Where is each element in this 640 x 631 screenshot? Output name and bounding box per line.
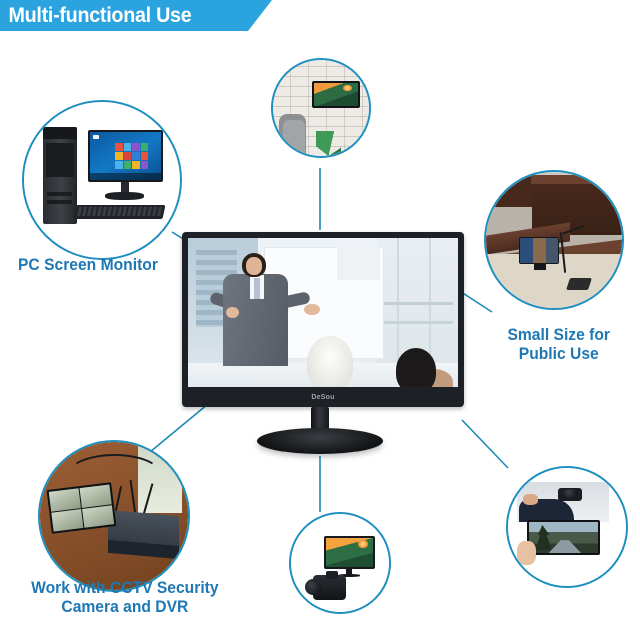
- callout-circle-public-use[interactable]: [484, 170, 624, 310]
- monitor-screen: [188, 238, 458, 387]
- monitor-stand-base: [257, 428, 383, 454]
- photo-wall-mounted-monitor: [273, 60, 369, 156]
- photo-camera-to-monitor: [291, 514, 389, 612]
- product-monitor: DeSou: [182, 232, 464, 407]
- photo-podium-small-monitor: [486, 172, 622, 308]
- photo-handheld-camera-and-monitor: [508, 468, 626, 586]
- label-small-size-for-public-use: Small Size for Public Use: [507, 325, 610, 363]
- callout-circle-wall-mount[interactable]: [271, 58, 371, 158]
- photo-desktop-pc-setup: [24, 102, 180, 258]
- page-title: Multi-functional Use: [0, 4, 191, 28]
- brand-logo: DeSou: [311, 394, 334, 401]
- label-pc-screen-monitor: PC Screen Monitor: [18, 255, 158, 274]
- label-work-with-cctv-security: Work with CCTV Security Camera and DVR: [31, 578, 218, 616]
- callout-circle-field-monitor[interactable]: [506, 466, 628, 588]
- callout-circle-pc-screen-monitor[interactable]: [22, 100, 182, 260]
- screen-presentation-scene: [188, 238, 458, 387]
- monitor-bezel: DeSou: [182, 232, 464, 407]
- callout-circle-cctv-security[interactable]: [38, 440, 190, 592]
- callout-circle-camera-connection[interactable]: [289, 512, 391, 614]
- monitor-chin: DeSou: [182, 387, 464, 407]
- infographic-canvas: Multi-functional Use: [0, 0, 640, 631]
- photo-cctv-dvr-setup: [40, 442, 188, 590]
- header-banner: Multi-functional Use: [0, 0, 272, 31]
